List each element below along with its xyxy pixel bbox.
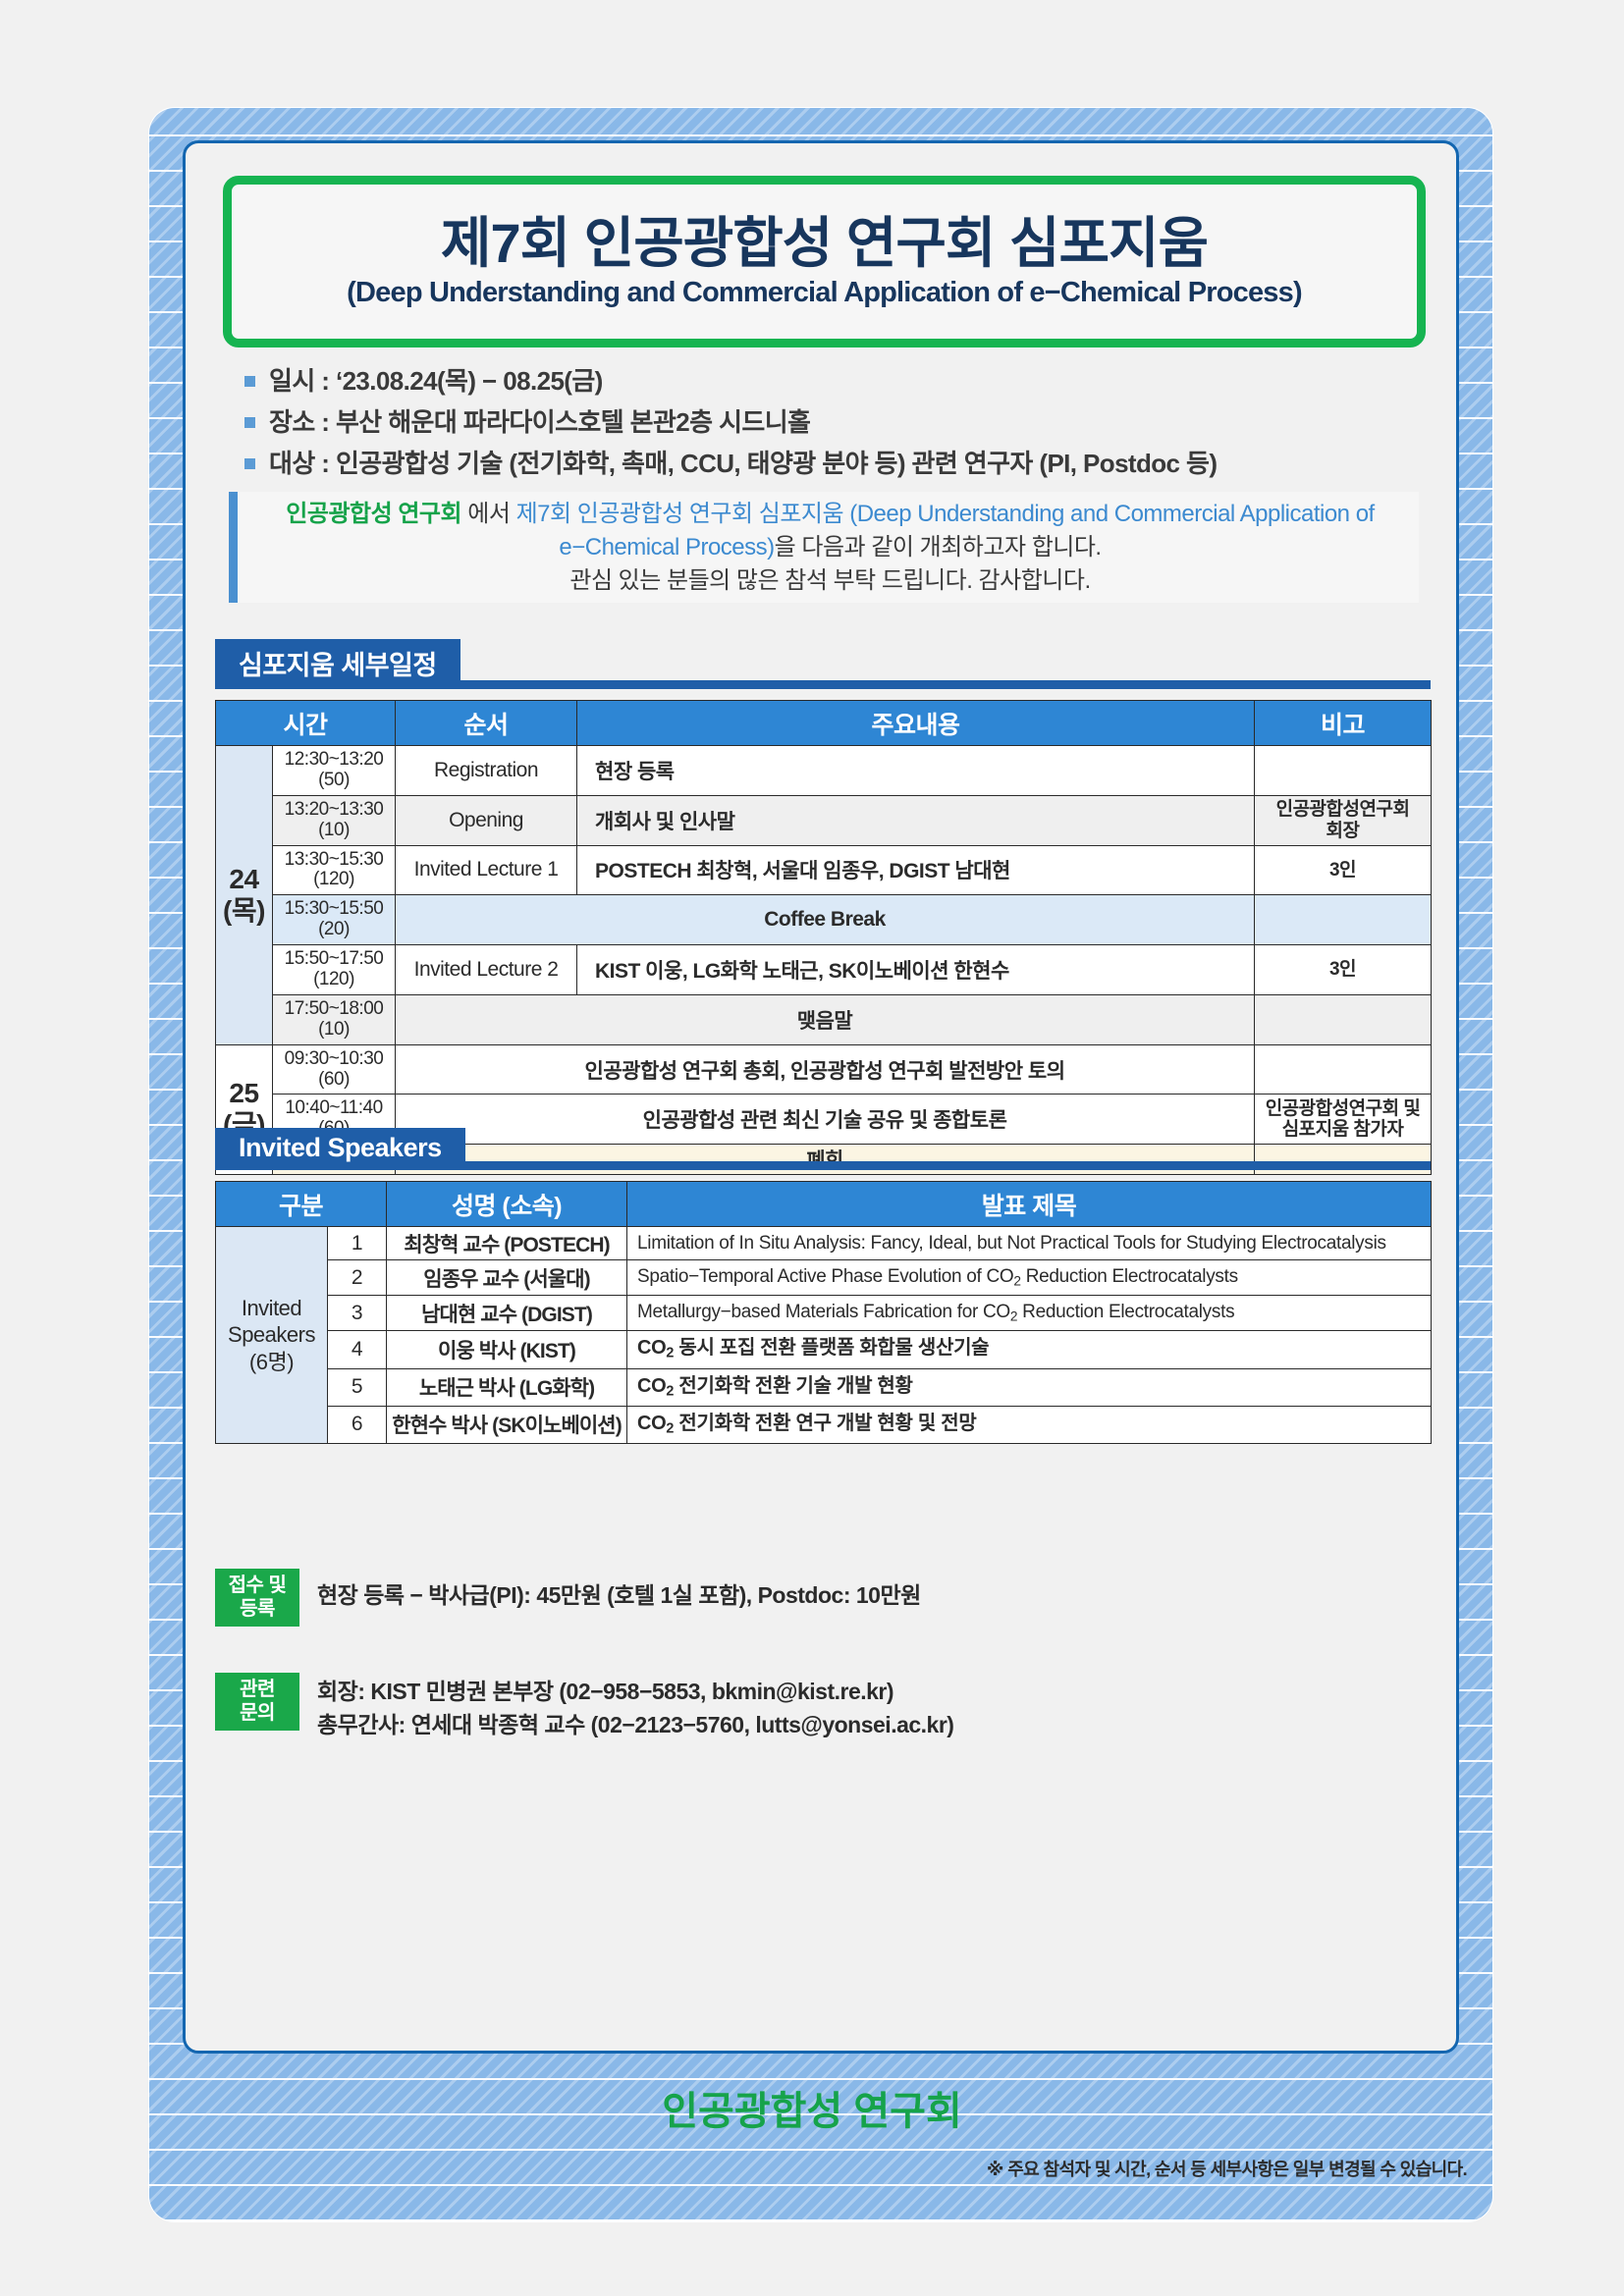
schedule-content: 개회사 및 인사말 [577, 795, 1255, 845]
schedule-content: Coffee Break [396, 895, 1255, 945]
speaker-name: 노태근 박사 (LG화학) [387, 1368, 627, 1406]
speaker-number: 4 [328, 1331, 387, 1368]
schedule-day-cell: 24(목) [216, 746, 273, 1045]
section-rule [465, 1161, 1431, 1170]
bullet-square-icon [244, 417, 255, 428]
table-row: 2임종우 교수 (서울대)Spatio−Temporal Active Phas… [216, 1260, 1432, 1296]
schedule-time: 13:30~15:30(120) [273, 845, 396, 895]
table-header-row: 시간 순서 주요내용 비고 [216, 701, 1432, 746]
intro-seg2: 을 다음과 같이 개최하고자 합니다. [775, 534, 1102, 561]
schedule-content: 인공광합성 연구회 총회, 인공광합성 연구회 발전방안 토의 [396, 1044, 1255, 1095]
speaker-name: 남대현 교수 (DGIST) [387, 1296, 627, 1331]
schedule-section-label: 심포지움 세부일정 [215, 639, 460, 689]
contact-lines: 회장: KIST 민병권 본부장 (02−958−5853, bkmin@kis… [317, 1673, 953, 1741]
col-order: 순서 [396, 701, 577, 746]
speaker-number: 6 [328, 1406, 387, 1443]
info-audience: 대상 : 인공광합성 기술 (전기화학, 촉매, CCU, 태양광 분야 등) … [269, 447, 1217, 481]
table-row: 25(금)09:30~10:30(60)인공광합성 연구회 총회, 인공광합성 … [216, 1044, 1432, 1095]
schedule-time: 17:50~18:00(10) [273, 994, 396, 1044]
speaker-presentation-title: CO2 전기화학 전환 기술 개발 현황 [627, 1368, 1432, 1406]
speaker-name: 한현수 박사 (SK이노베이션) [387, 1406, 627, 1443]
list-item: 일시 : ‘23.08.24(목) − 08.25(금) [244, 364, 1423, 399]
bullet-square-icon [244, 376, 255, 387]
registration-block: 접수 및등록 현장 등록 − 박사급(PI): 45만원 (호텔 1실 포함),… [215, 1569, 921, 1627]
col-presentation-title: 발표 제목 [627, 1182, 1432, 1227]
col-name: 성명 (소속) [387, 1182, 627, 1227]
table-row: 15:50~17:50(120)Invited Lecture 2KIST 이웅… [216, 945, 1432, 995]
speaker-name: 최창혁 교수 (POSTECH) [387, 1227, 627, 1260]
speaker-presentation-title: Metallurgy−based Materials Fabrication f… [627, 1296, 1432, 1331]
list-item: 대상 : 인공광합성 기술 (전기화학, 촉매, CCU, 태양광 분야 등) … [244, 447, 1423, 481]
intro-paragraph: 인공광합성 연구회 에서 제7회 인공광합성 연구회 심포지움 (Deep Un… [229, 492, 1419, 603]
schedule-order: Registration [396, 746, 577, 796]
speaker-number: 2 [328, 1260, 387, 1296]
speaker-presentation-title: Spatio−Temporal Active Phase Evolution o… [627, 1260, 1432, 1296]
contact-chair: 회장: KIST 민병권 본부장 (02−958−5853, bkmin@kis… [317, 1675, 953, 1708]
speakers-section: Invited Speakers 구분 성명 (소속) 발표 제목 Invite… [215, 1128, 1431, 1444]
info-date: 일시 : ‘23.08.24(목) − 08.25(금) [269, 364, 603, 399]
speaker-number: 3 [328, 1296, 387, 1331]
speaker-presentation-title: CO2 동시 포집 전환 플랫폼 화합물 생산기술 [627, 1331, 1432, 1368]
info-venue: 장소 : 부산 해운대 파라다이스호텔 본관2층 시드니홀 [269, 405, 810, 440]
schedule-time: 13:20~13:30(10) [273, 795, 396, 845]
col-time: 시간 [216, 701, 396, 746]
table-row: 24(목)12:30~13:20(50)Registration현장 등록 [216, 746, 1432, 796]
table-row: 13:20~13:30(10)Opening개회사 및 인사말인공광합성연구회회… [216, 795, 1432, 845]
schedule-order: Opening [396, 795, 577, 845]
intro-org: 인공광합성 연구회 [286, 501, 461, 527]
event-info-list: 일시 : ‘23.08.24(목) − 08.25(금) 장소 : 부산 해운대… [244, 364, 1423, 488]
table-row: 5노태근 박사 (LG화학)CO2 전기화학 전환 기술 개발 현황 [216, 1368, 1432, 1406]
table-row: 15:30~15:50(20)Coffee Break [216, 895, 1432, 945]
page-subtitle: (Deep Understanding and Commercial Appli… [347, 277, 1302, 309]
speakers-section-label: Invited Speakers [215, 1128, 465, 1170]
schedule-content: 맺음말 [396, 994, 1255, 1044]
schedule-note [1255, 895, 1432, 945]
footer-organization: 인공광합성 연구회 [0, 2079, 1624, 2136]
schedule-time: 12:30~13:20(50) [273, 746, 396, 796]
col-note: 비고 [1255, 701, 1432, 746]
speaker-presentation-title: CO2 전기화학 전환 연구 개발 현황 및 전망 [627, 1406, 1432, 1443]
speaker-name: 임종우 교수 (서울대) [387, 1260, 627, 1296]
speakers-group-cell: InvitedSpeakers(6명) [216, 1227, 328, 1444]
speaker-name: 이웅 박사 (KIST) [387, 1331, 627, 1368]
title-box: 제7회 인공광합성 연구회 심포지움 (Deep Understanding a… [223, 176, 1426, 347]
registration-text: 현장 등록 − 박사급(PI): 45만원 (호텔 1실 포함), Postdo… [317, 1569, 921, 1612]
speaker-number: 5 [328, 1368, 387, 1406]
schedule-order: Invited Lecture 1 [396, 845, 577, 895]
schedule-table: 시간 순서 주요내용 비고 24(목)12:30~13:20(50)Regist… [215, 700, 1432, 1175]
table-row: InvitedSpeakers(6명)1최창혁 교수 (POSTECH)Limi… [216, 1227, 1432, 1260]
footer-disclaimer: ※ 주요 참석자 및 시간, 순서 등 세부사항은 일부 변경될 수 있습니다. [987, 2156, 1467, 2181]
schedule-time: 15:50~17:50(120) [273, 945, 396, 995]
intro-seg1: 에서 [461, 501, 516, 527]
table-header-row: 구분 성명 (소속) 발표 제목 [216, 1182, 1432, 1227]
schedule-time: 09:30~10:30(60) [273, 1044, 396, 1095]
schedule-section: 심포지움 세부일정 시간 순서 주요내용 비고 24(목)12:30~13:20… [215, 639, 1431, 1175]
schedule-note [1255, 1044, 1432, 1095]
contact-block: 관련문의 회장: KIST 민병권 본부장 (02−958−5853, bkmi… [215, 1673, 953, 1741]
schedule-note [1255, 746, 1432, 796]
table-row: 6한현수 박사 (SK이노베이션)CO2 전기화학 전환 연구 개발 현황 및 … [216, 1406, 1432, 1443]
contact-secretary: 총무간사: 연세대 박종혁 교수 (02−2123−5760, lutts@yo… [317, 1708, 953, 1741]
schedule-time: 15:30~15:50(20) [273, 895, 396, 945]
list-item: 장소 : 부산 해운대 파라다이스호텔 본관2층 시드니홀 [244, 405, 1423, 440]
poster-page: 제7회 인공광합성 연구회 심포지움 (Deep Understanding a… [0, 0, 1624, 2296]
section-header-bar: Invited Speakers [215, 1128, 1431, 1170]
schedule-content: POSTECH 최창혁, 서울대 임종우, DGIST 남대현 [577, 845, 1255, 895]
section-rule [460, 680, 1431, 689]
schedule-content: 현장 등록 [577, 746, 1255, 796]
table-row: 3남대현 교수 (DGIST)Metallurgy−based Material… [216, 1296, 1432, 1331]
schedule-note: 3인 [1255, 845, 1432, 895]
poster-card: 제7회 인공광합성 연구회 심포지움 (Deep Understanding a… [183, 140, 1459, 2054]
section-header-bar: 심포지움 세부일정 [215, 639, 1431, 689]
speaker-number: 1 [328, 1227, 387, 1260]
table-row: 4이웅 박사 (KIST)CO2 동시 포집 전환 플랫폼 화합물 생산기술 [216, 1331, 1432, 1368]
table-row: 13:30~15:30(120)Invited Lecture 1POSTECH… [216, 845, 1432, 895]
page-title: 제7회 인공광합성 연구회 심포지움 [441, 214, 1208, 273]
col-group: 구분 [216, 1182, 387, 1227]
col-content: 주요내용 [577, 701, 1255, 746]
schedule-order: Invited Lecture 2 [396, 945, 577, 995]
contact-badge: 관련문의 [215, 1673, 299, 1731]
schedule-content: KIST 이웅, LG화학 노태근, SK이노베이션 한현수 [577, 945, 1255, 995]
speaker-presentation-title: Limitation of In Situ Analysis: Fancy, I… [627, 1227, 1432, 1260]
speakers-table: 구분 성명 (소속) 발표 제목 InvitedSpeakers(6명)1최창혁… [215, 1181, 1432, 1444]
intro-line3: 관심 있는 분들의 많은 참석 부탁 드립니다. 감사합니다. [569, 567, 1090, 594]
table-row: 17:50~18:00(10)맺음말 [216, 994, 1432, 1044]
schedule-note: 3인 [1255, 945, 1432, 995]
bullet-square-icon [244, 458, 255, 469]
schedule-note [1255, 994, 1432, 1044]
schedule-note: 인공광합성연구회회장 [1255, 795, 1432, 845]
registration-badge: 접수 및등록 [215, 1569, 299, 1627]
